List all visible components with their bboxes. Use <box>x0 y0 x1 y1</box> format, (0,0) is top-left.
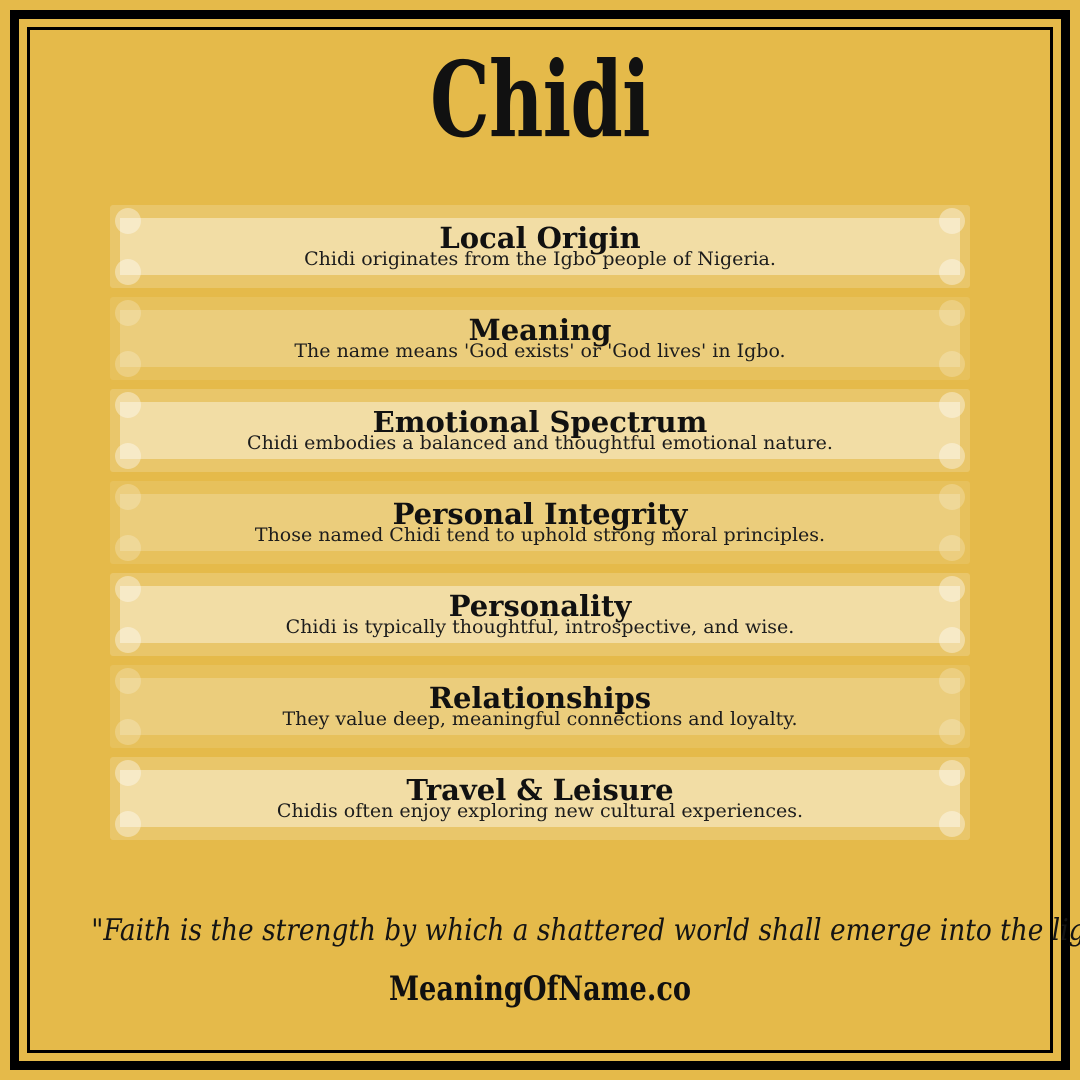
attribute-card-list: Local Origin Chidi originates from the I… <box>110 205 970 849</box>
name-meaning-poster: Chidi Local Origin Chidi originates from… <box>0 0 1080 1080</box>
card-heading: Emotional Spectrum <box>373 409 708 435</box>
card-heading: Personal Integrity <box>393 501 688 527</box>
card-text: Travel & Leisure Chidis often enjoy expl… <box>110 757 970 840</box>
card-text: Relationships They value deep, meaningfu… <box>110 665 970 748</box>
card-description: Chidi embodies a balanced and thoughtful… <box>247 434 833 453</box>
card-description: Chidi is typically thoughtful, introspec… <box>286 618 795 637</box>
page-title: Chidi <box>173 48 907 152</box>
card-text: Emotional Spectrum Chidi embodies a bala… <box>110 389 970 472</box>
attribute-card-emotional-spectrum: Emotional Spectrum Chidi embodies a bala… <box>110 389 970 472</box>
card-description: Chidi originates from the Igbo people of… <box>304 250 776 269</box>
poster-content: Chidi Local Origin Chidi originates from… <box>30 30 1050 1050</box>
card-text: Personal Integrity Those named Chidi ten… <box>110 481 970 564</box>
card-text: Meaning The name means 'God exists' or '… <box>110 297 970 380</box>
card-text: Personality Chidi is typically thoughtfu… <box>110 573 970 656</box>
attribute-card-local-origin: Local Origin Chidi originates from the I… <box>110 205 970 288</box>
card-heading: Personality <box>449 593 632 619</box>
card-text: Local Origin Chidi originates from the I… <box>110 205 970 288</box>
card-description: They value deep, meaningful connections … <box>282 710 797 729</box>
poster-footer: "Faith is the strength by which a shatte… <box>30 914 1050 1008</box>
site-name: MeaningOfName.co <box>132 970 948 1008</box>
card-heading: Travel & Leisure <box>406 777 673 803</box>
card-description: Those named Chidi tend to uphold strong … <box>255 526 825 545</box>
card-description: Chidis often enjoy exploring new cultura… <box>277 802 803 821</box>
attribute-card-personality: Personality Chidi is typically thoughtfu… <box>110 573 970 656</box>
card-heading: Local Origin <box>439 225 640 251</box>
card-heading: Relationships <box>429 685 651 711</box>
attribute-card-personal-integrity: Personal Integrity Those named Chidi ten… <box>110 481 970 564</box>
card-description: The name means 'God exists' or 'God live… <box>294 342 785 361</box>
attribute-card-travel-leisure: Travel & Leisure Chidis often enjoy expl… <box>110 757 970 840</box>
footer-quote: "Faith is the strength by which a shatte… <box>91 914 989 948</box>
attribute-card-relationships: Relationships They value deep, meaningfu… <box>110 665 970 748</box>
card-heading: Meaning <box>469 317 612 343</box>
attribute-card-meaning: Meaning The name means 'God exists' or '… <box>110 297 970 380</box>
